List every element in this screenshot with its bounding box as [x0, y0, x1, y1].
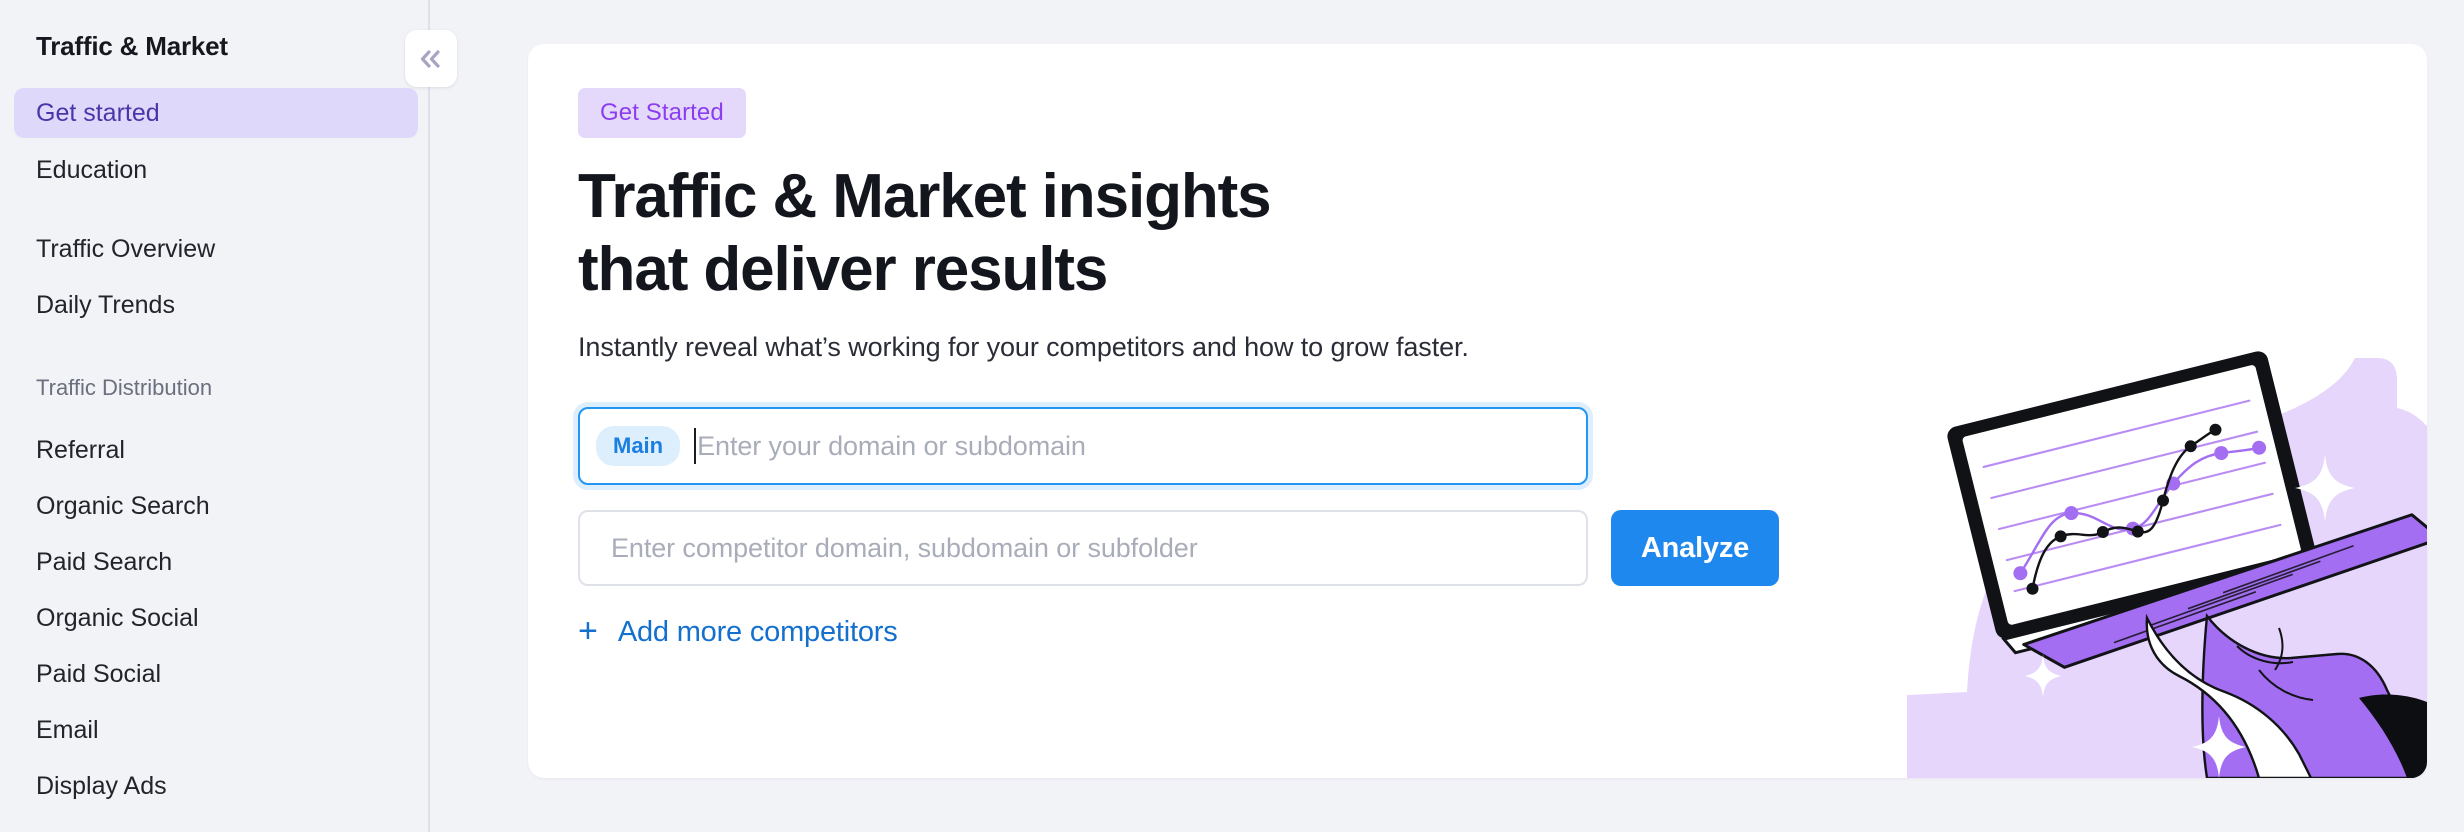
sidebar-item-label: Get started: [36, 99, 160, 128]
sidebar-item-education[interactable]: Education: [14, 145, 418, 195]
sidebar-item-label: Daily Trends: [36, 291, 175, 320]
page-subtitle: Instantly reveal what’s working for your…: [578, 332, 2427, 363]
competitor-row: Enter competitor domain, subdomain or su…: [578, 510, 2427, 586]
sidebar-item-label: Traffic Overview: [36, 235, 215, 264]
text-caret: [694, 428, 696, 464]
sidebar-item-referral[interactable]: Referral: [14, 425, 418, 475]
get-started-badge: Get Started: [578, 88, 746, 138]
sidebar: Traffic & Market Get started Education T…: [0, 0, 430, 832]
sidebar-item-label: Referral: [36, 436, 125, 465]
sidebar-item-organic-search[interactable]: Organic Search: [14, 481, 418, 531]
plus-icon: +: [578, 614, 598, 648]
sidebar-section-traffic-distribution: Traffic Distribution: [36, 375, 212, 401]
sidebar-divider: [428, 0, 430, 832]
page-title-line-1: Traffic & Market insights: [578, 162, 1271, 231]
domain-form: Main Enter your domain or subdomain Ente…: [578, 407, 2427, 649]
main-domain-placeholder: Enter your domain or subdomain: [697, 431, 1086, 462]
sidebar-title: Traffic & Market: [36, 31, 228, 62]
sidebar-item-daily-trends[interactable]: Daily Trends: [14, 280, 418, 330]
double-chevron-left-icon: [417, 47, 445, 71]
sidebar-item-get-started[interactable]: Get started: [14, 88, 418, 138]
add-more-competitors-button[interactable]: + Add more competitors: [578, 616, 898, 649]
sidebar-item-paid-search[interactable]: Paid Search: [14, 537, 418, 587]
analyze-button[interactable]: Analyze: [1611, 510, 1779, 586]
sidebar-item-organic-social[interactable]: Organic Social: [14, 593, 418, 643]
sidebar-item-email[interactable]: Email: [14, 705, 418, 755]
sidebar-item-label: Organic Search: [36, 492, 210, 521]
sidebar-item-label: Paid Search: [36, 548, 172, 577]
sidebar-item-label: Organic Social: [36, 604, 199, 633]
sidebar-item-label: Email: [36, 716, 99, 745]
page-title: Traffic & Market insights that deliver r…: [578, 160, 2427, 306]
main-domain-field[interactable]: Main Enter your domain or subdomain: [578, 407, 1588, 485]
sidebar-item-display-ads[interactable]: Display Ads: [14, 761, 418, 811]
competitor-domain-field[interactable]: Enter competitor domain, subdomain or su…: [578, 510, 1588, 586]
add-more-competitors-label: Add more competitors: [618, 616, 898, 649]
get-started-card: Get Started Traffic & Market insights th…: [528, 44, 2427, 778]
app-root: Traffic & Market Get started Education T…: [0, 0, 2464, 832]
main-badge: Main: [596, 426, 680, 466]
competitor-domain-placeholder: Enter competitor domain, subdomain or su…: [611, 533, 1198, 564]
sidebar-item-label: Education: [36, 156, 147, 185]
page-title-line-2: that deliver results: [578, 233, 2427, 306]
sidebar-item-paid-social[interactable]: Paid Social: [14, 649, 418, 699]
sidebar-item-traffic-overview[interactable]: Traffic Overview: [14, 224, 418, 274]
sidebar-item-label: Paid Social: [36, 660, 161, 689]
sidebar-item-label: Display Ads: [36, 772, 167, 801]
sidebar-item-sources-and-destination[interactable]: Sources & Destination: [14, 820, 418, 832]
sidebar-collapse-button[interactable]: [405, 30, 457, 87]
